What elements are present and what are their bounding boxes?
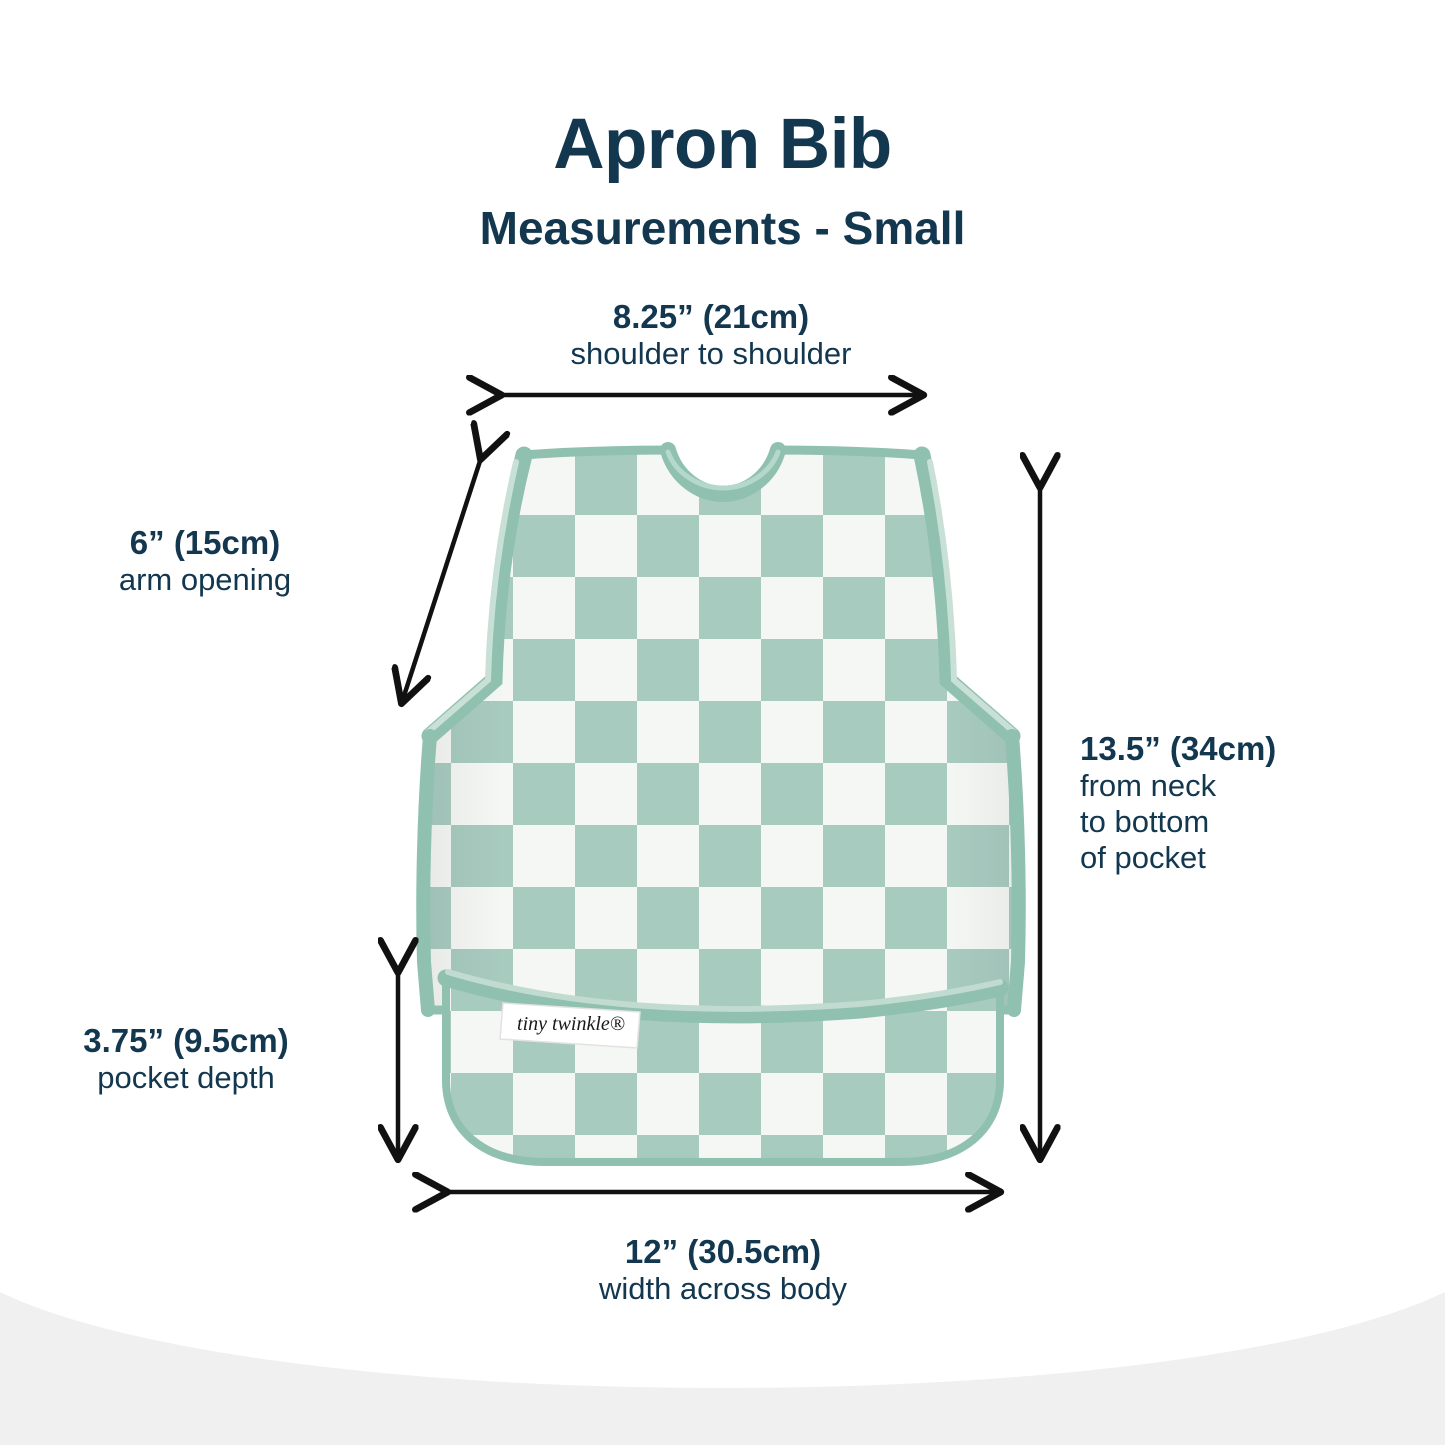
measurement-label-pocket-depth: 3.75” (9.5cm) pocket depth: [10, 1022, 362, 1096]
measurement-desc-neck-to-pocket-line1: from neck: [1080, 768, 1420, 804]
bib-body: [400, 430, 1050, 1040]
measurement-value-width-across-body: 12” (30.5cm): [423, 1233, 1023, 1271]
measurement-value-arm-opening: 6” (15cm): [10, 524, 400, 562]
page-subtitle: Measurements - Small: [0, 203, 1445, 254]
neckline-binding: [668, 450, 778, 494]
measurement-label-neck-to-pocket: 13.5” (34cm) from neck to bottom of pock…: [1080, 730, 1420, 876]
measurement-desc-width-across-body: width across body: [423, 1271, 1023, 1307]
measurement-desc-neck-to-pocket-line3: of pocket: [1080, 840, 1420, 876]
measurement-diagram-page: tiny twinkle® Apron Bib Measurements - S…: [0, 0, 1445, 1445]
measurement-value-shoulder: 8.25” (21cm): [411, 298, 1011, 336]
right-side-seam: [1012, 736, 1019, 1010]
measurement-desc-pocket-depth: pocket depth: [10, 1060, 362, 1096]
measurement-desc-arm-opening: arm opening: [10, 562, 400, 598]
measurement-value-pocket-depth: 3.75” (9.5cm): [10, 1022, 362, 1060]
measurement-label-shoulder: 8.25” (21cm) shoulder to shoulder: [411, 298, 1011, 372]
measurement-label-width-across-body: 12” (30.5cm) width across body: [423, 1233, 1023, 1307]
page-title: Apron Bib: [0, 108, 1445, 183]
left-side-seam: [423, 736, 430, 1010]
measurement-value-neck-to-pocket: 13.5” (34cm): [1080, 730, 1420, 768]
measurement-desc-neck-to-pocket-line2: to bottom: [1080, 804, 1420, 840]
measurement-label-arm-opening: 6” (15cm) arm opening: [10, 524, 400, 598]
measurement-desc-shoulder: shoulder to shoulder: [411, 336, 1011, 372]
brand-tag-label: tiny twinkle®: [517, 1013, 625, 1035]
